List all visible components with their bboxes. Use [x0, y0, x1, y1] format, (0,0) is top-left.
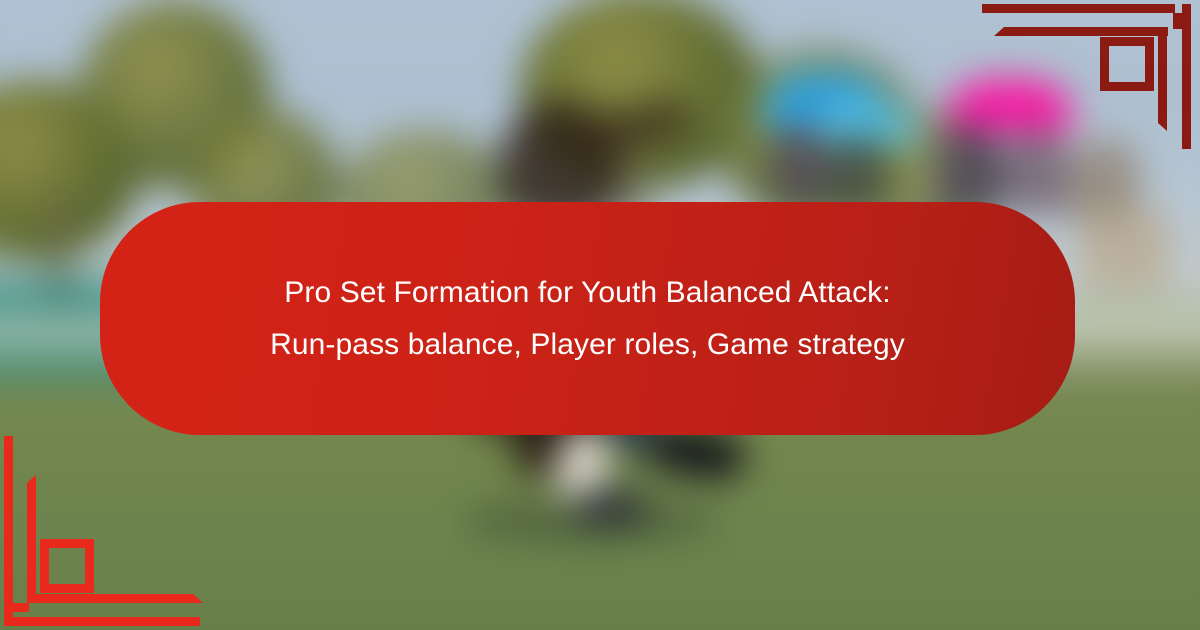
- player-shoe: [575, 490, 645, 524]
- ornament-square: [40, 539, 94, 593]
- corner-ornament-bottom-left-icon: [0, 430, 220, 630]
- ornament-bar-horizontal-outer: [982, 4, 1175, 13]
- ornament-tick: [1173, 13, 1182, 29]
- ornament-bar-vertical-outer: [4, 436, 13, 626]
- page-title: Pro Set Formation for Youth Balanced Att…: [270, 267, 905, 371]
- corner-ornament-top-right-icon: [980, 0, 1200, 150]
- ornament-bar-horizontal-inner: [994, 27, 1168, 36]
- spectator-blob: [770, 125, 830, 205]
- spectator-blob: [830, 135, 885, 210]
- ornament-bar-vertical-inner: [27, 475, 36, 603]
- ornament-square: [1100, 37, 1154, 91]
- title-banner: Pro Set Formation for Youth Balanced Att…: [100, 202, 1075, 435]
- ornament-tick: [13, 603, 29, 612]
- social-card: Pro Set Formation for Youth Balanced Att…: [0, 0, 1200, 630]
- ornament-bar-horizontal-outer: [4, 617, 200, 626]
- ornament-bar-horizontal-inner: [27, 594, 203, 603]
- ornament-bar-vertical-inner: [1158, 27, 1167, 131]
- spectator-blob: [1080, 210, 1170, 290]
- ornament-bar-vertical-outer: [1182, 4, 1191, 149]
